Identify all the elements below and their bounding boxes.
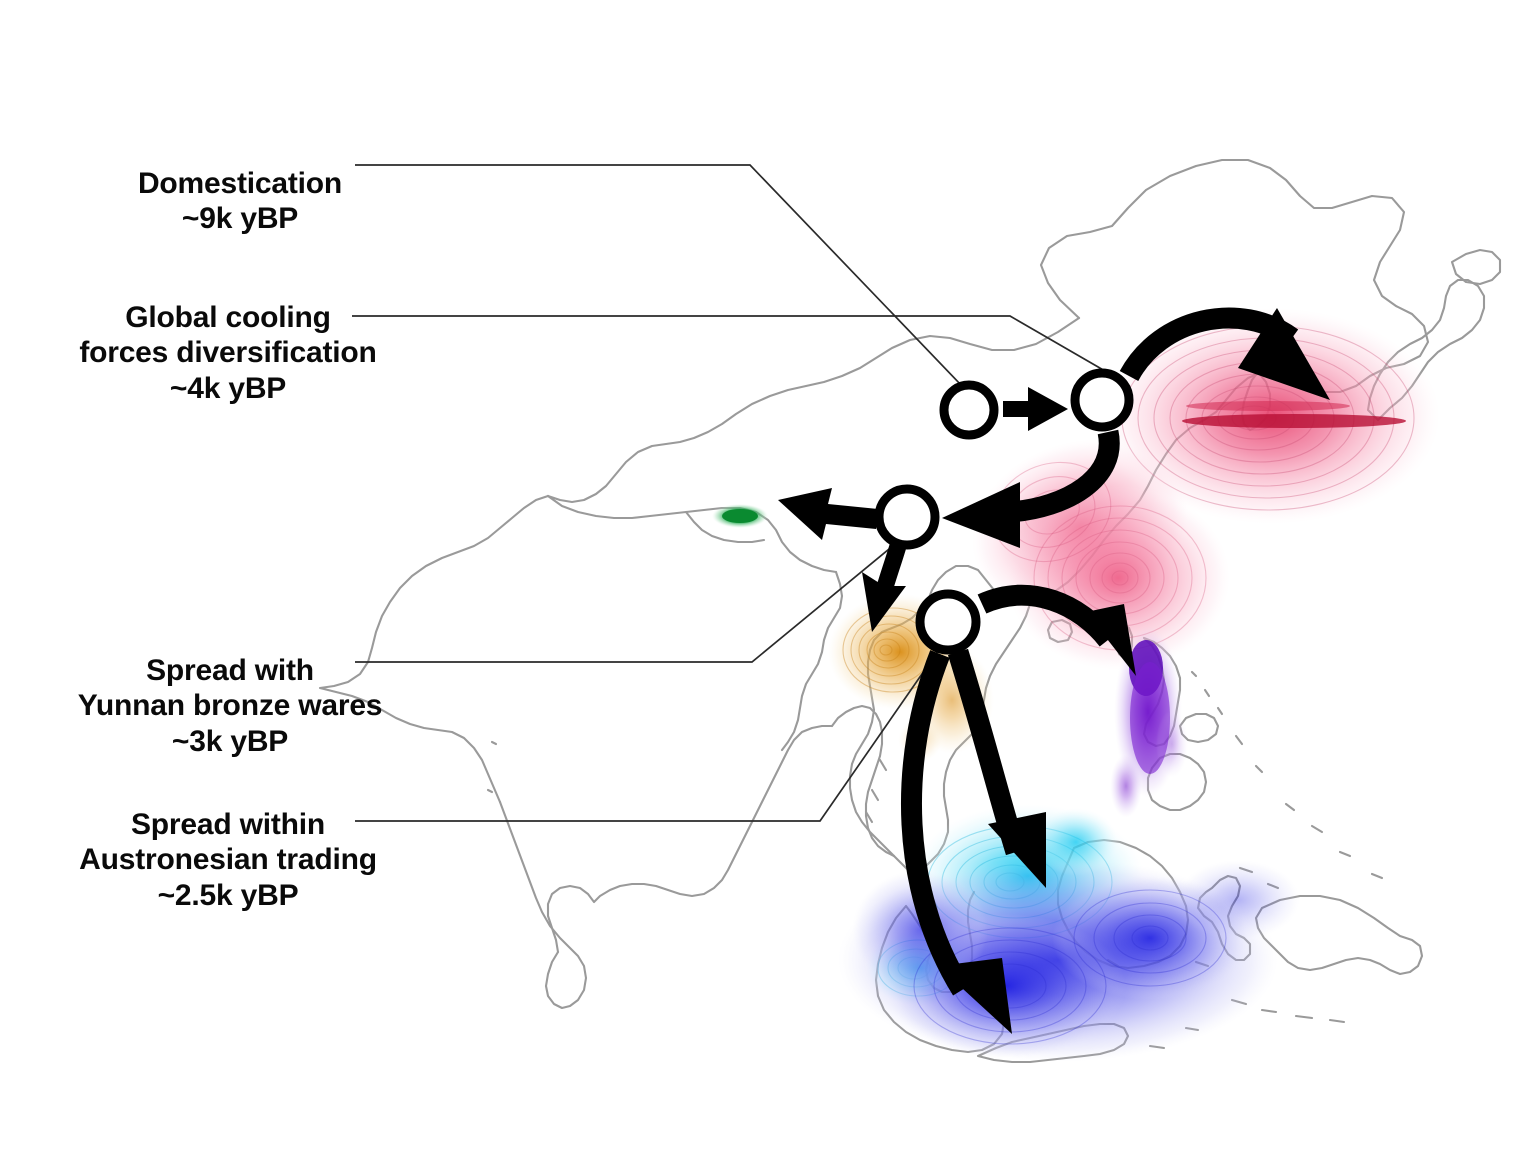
annotation-domestication-line2: ~9k yBP bbox=[110, 201, 370, 236]
annotation-yunnan-line3: ~3k yBP bbox=[70, 724, 390, 759]
annotation-austronesian-line3: ~2.5k yBP bbox=[66, 878, 390, 913]
annotation-domestication: Domestication ~9k yBP bbox=[110, 166, 370, 237]
annotation-austronesian-line1: Spread within bbox=[66, 807, 390, 842]
annotation-yunnan-line1: Spread with bbox=[70, 653, 390, 688]
annotation-yunnan-line2: Yunnan bronze wares bbox=[70, 688, 390, 723]
annotation-austronesian-line2: Austronesian trading bbox=[66, 842, 390, 877]
annotation-austronesian-trading: Spread within Austronesian trading ~2.5k… bbox=[66, 807, 390, 913]
annotation-domestication-line1: Domestication bbox=[110, 166, 370, 201]
annotation-global-cooling-line3: ~4k yBP bbox=[68, 371, 388, 406]
dispersal-map-figure: Domestication ~9k yBP Global cooling for… bbox=[0, 0, 1519, 1162]
annotation-global-cooling-line1: Global cooling bbox=[68, 300, 388, 335]
annotation-global-cooling: Global cooling forces diversification ~4… bbox=[68, 300, 388, 406]
annotation-yunnan-bronze-wares: Spread with Yunnan bronze wares ~3k yBP bbox=[70, 653, 390, 759]
annotation-global-cooling-line2: forces diversification bbox=[68, 335, 388, 370]
